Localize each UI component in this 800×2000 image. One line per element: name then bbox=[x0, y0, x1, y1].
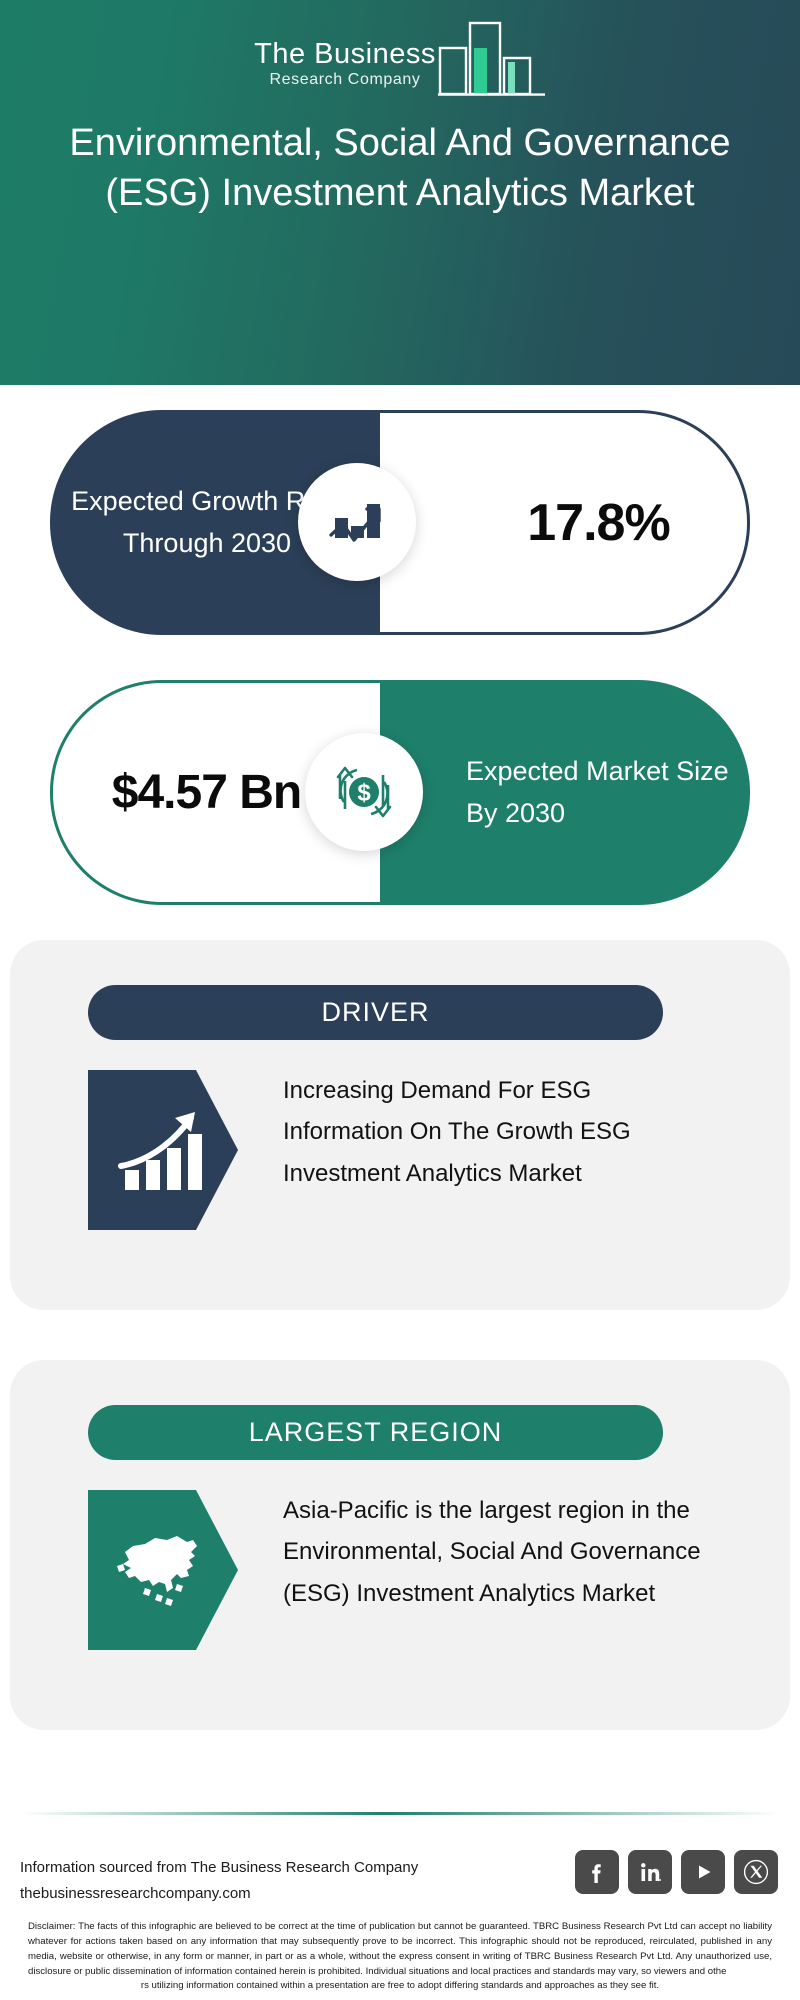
logo-line-2: Research Company bbox=[269, 70, 420, 90]
asia-pacific-map-icon bbox=[88, 1490, 238, 1650]
logo-line-1: The Business bbox=[254, 40, 436, 70]
stat-market-label: Expected Market Size By 2030 bbox=[380, 680, 750, 905]
logo-wordmark: The Business Research Company bbox=[254, 40, 436, 96]
source-website-link[interactable]: thebusinessresearchcompany.com bbox=[20, 1881, 418, 1907]
driver-body: Increasing Demand For ESG Information On… bbox=[88, 1070, 748, 1230]
youtube-icon[interactable] bbox=[681, 1850, 725, 1894]
bar-chart-growth-icon bbox=[88, 1070, 238, 1230]
disclaimer-text: Disclaimer: The facts of this infographi… bbox=[28, 1920, 772, 1994]
driver-pill-label: DRIVER bbox=[88, 985, 663, 1040]
x-twitter-icon[interactable] bbox=[734, 1850, 778, 1894]
social-links bbox=[575, 1850, 778, 1894]
panel-driver: DRIVER Increasing Demand For ESG Informa… bbox=[10, 940, 790, 1310]
source-line-1: Information sourced from The Business Re… bbox=[20, 1855, 418, 1881]
logo-bars-icon bbox=[438, 20, 546, 96]
region-pill-label: LARGEST REGION bbox=[88, 1405, 663, 1460]
page-title: Environmental, Social And Governance (ES… bbox=[30, 118, 770, 218]
infographic-page: The Business Research Company Environmen… bbox=[0, 0, 800, 2000]
svg-text:$: $ bbox=[357, 780, 371, 807]
source-credit: Information sourced from The Business Re… bbox=[20, 1855, 418, 1908]
company-logo: The Business Research Company bbox=[254, 18, 546, 96]
region-text: Asia-Pacific is the largest region in th… bbox=[283, 1490, 703, 1650]
panel-largest-region: LARGEST REGION Asia-Pacific is the large… bbox=[10, 1360, 790, 1730]
dollar-refresh-icon: $ bbox=[305, 733, 423, 851]
footer-divider bbox=[20, 1812, 780, 1815]
header-banner: The Business Research Company Environmen… bbox=[0, 0, 800, 385]
driver-text: Increasing Demand For ESG Information On… bbox=[283, 1070, 703, 1230]
growth-chart-arrow-icon bbox=[298, 463, 416, 581]
disclaimer-last-line: rs utilizing information contained withi… bbox=[28, 1979, 772, 1994]
stat-growth-value: 17.8% bbox=[457, 493, 669, 553]
linkedin-icon[interactable] bbox=[628, 1850, 672, 1894]
facebook-icon[interactable] bbox=[575, 1850, 619, 1894]
stat-growth-value-box: 17.8% bbox=[380, 410, 750, 635]
stat-market-value: $4.57 Bn bbox=[112, 765, 321, 820]
region-body: Asia-Pacific is the largest region in th… bbox=[88, 1490, 748, 1650]
disclaimer-main: Disclaimer: The facts of this infographi… bbox=[28, 1921, 772, 1977]
